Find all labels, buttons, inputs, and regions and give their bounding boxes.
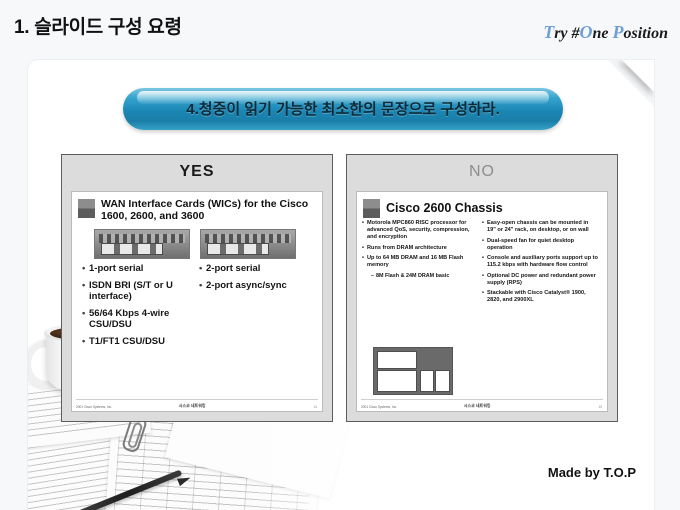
diagram-box — [377, 370, 417, 392]
list-item: •56/64 Kbps 4-wire CSU/DSU — [82, 308, 199, 331]
bullet-dot-icon: • — [199, 280, 206, 292]
diagram-box — [420, 370, 434, 392]
slide-bullet-chip-icon — [78, 199, 95, 218]
list-item: •Optional DC power and redundant power s… — [482, 273, 598, 287]
slide-bullet-columns-no: •Motorola MPC860 RISC processor for adva… — [357, 218, 607, 308]
bullet-dot-icon: • — [82, 308, 89, 331]
slide-footer-center: 시스코 네트워킹 — [464, 403, 491, 409]
list-item-text: Optional DC power and redundant power su… — [487, 273, 598, 287]
slide-header-yes: WAN Interface Cards (WICs) for the Cisco… — [72, 192, 322, 222]
author-signature: Made by T.O.P — [548, 465, 636, 480]
slide-footer-page-number: 14 — [313, 405, 317, 409]
sub-list-item-text: 8M Flash & 24M DRAM basic — [376, 273, 449, 280]
list-item: •Dual-speed fan for quiet desktop operat… — [482, 238, 598, 252]
slide-footer-page-number: 15 — [598, 405, 602, 409]
list-item: •Motorola MPC860 RISC processor for adva… — [362, 220, 478, 241]
slide-title-yes: WAN Interface Cards (WICs) for the Cisco… — [101, 198, 316, 222]
bullet-dot-icon: • — [82, 263, 89, 275]
list-item-text: Stackable with Cisco Catalyst® 1900, 282… — [487, 290, 598, 304]
slide-content-card: 4.청중이 읽기 가능한 최소한의 문장으로 구성하라. YES WAN Int… — [28, 60, 654, 510]
bullet-dot-icon: • — [199, 263, 206, 275]
list-item: •Up to 64 MB DRAM and 16 MB Flash memory — [362, 255, 478, 269]
tagline-part-5: P — [613, 22, 624, 42]
bullet-column-right: •2-port serial •2-port async/sync — [199, 263, 316, 352]
chassis-front-panel-diagram — [373, 347, 453, 395]
list-item: •T1/FT1 CSU/DSU — [82, 336, 199, 348]
slide-header-no: Cisco 2600 Chassis — [357, 192, 607, 218]
list-item-text: 2-port async/sync — [206, 280, 287, 292]
slide-footer-center: 시스코 네트워킹 — [179, 403, 206, 409]
tagline-part-6: osition — [624, 25, 668, 42]
slide-footer-left: 2001 Cisco Systems, Inc. — [76, 405, 112, 409]
list-item-text: ISDN BRI (S/T or U interface) — [89, 280, 199, 303]
bullet-dot-icon: • — [82, 336, 89, 348]
sub-list-item: –8M Flash & 24M DRAM basic — [371, 273, 478, 280]
bullet-column-left: •1-port serial •ISDN BRI (S/T or U inter… — [82, 263, 199, 352]
comparison-panel-no: NO Cisco 2600 Chassis •Motorola MPC860 R… — [346, 154, 618, 422]
list-item: •Easy-open chassis can be mounted in 19"… — [482, 220, 598, 234]
slide-footer-no: 2001 Cisco Systems, Inc. 시스코 네트워킹 15 — [361, 399, 603, 409]
example-slide-yes: WAN Interface Cards (WICs) for the Cisco… — [71, 191, 323, 412]
comparison-panel-yes: YES WAN Interface Cards (WICs) for the C… — [61, 154, 333, 422]
list-item-text: Dual-speed fan for quiet desktop operati… — [487, 238, 598, 252]
bullet-column-left: •Motorola MPC860 RISC processor for adva… — [362, 220, 482, 308]
list-item: •1-port serial — [82, 263, 199, 275]
list-item-text: Motorola MPC860 RISC processor for advan… — [367, 220, 478, 241]
list-item: •Console and auxiliary ports support up … — [482, 255, 598, 269]
slide-footer-left: 2001 Cisco Systems, Inc. — [361, 405, 397, 409]
list-item-text: Console and auxiliary ports support up t… — [487, 255, 598, 269]
list-item-text: T1/FT1 CSU/DSU — [89, 336, 165, 348]
wic-card-photo-2-image — [200, 229, 296, 259]
bullet-column-right: •Easy-open chassis can be mounted in 19"… — [482, 220, 602, 308]
tagline-part-3: O — [580, 22, 593, 42]
list-item-text: Up to 64 MB DRAM and 16 MB Flash memory — [367, 255, 478, 269]
list-item-text: 56/64 Kbps 4-wire CSU/DSU — [89, 308, 199, 331]
page-title: 1. 슬라이드 구성 요령 — [14, 12, 182, 39]
example-slide-no: Cisco 2600 Chassis •Motorola MPC860 RISC… — [356, 191, 608, 412]
page-curl-corner — [608, 60, 654, 106]
tagline-part-1: T — [543, 22, 554, 42]
list-item: •2-port serial — [199, 263, 316, 275]
header-tagline: Try #One Position — [543, 22, 668, 43]
slide-bullet-columns-yes: •1-port serial •ISDN BRI (S/T or U inter… — [72, 261, 322, 352]
slide-title-no: Cisco 2600 Chassis — [386, 198, 503, 215]
wic-card-photos — [72, 222, 322, 261]
instruction-banner: 4.청중이 읽기 가능한 최소한의 문장으로 구성하라. — [123, 88, 563, 130]
diagram-box — [377, 351, 417, 369]
list-item: •Stackable with Cisco Catalyst® 1900, 28… — [482, 290, 598, 304]
tagline-part-4: ne — [593, 25, 613, 42]
wic-card-photo-1-image — [94, 229, 190, 259]
list-item-text: 2-port serial — [206, 263, 260, 275]
list-item-text: Runs from DRAM architecture — [367, 245, 447, 252]
slide-bullet-chip-icon — [363, 199, 380, 218]
page-header: 1. 슬라이드 구성 요령 Try #One Position — [0, 0, 680, 58]
panel-label-no: NO — [347, 155, 617, 181]
list-item-text: 1-port serial — [89, 263, 143, 275]
slide-footer-yes: 2001 Cisco Systems, Inc. 시스코 네트워킹 14 — [76, 399, 318, 409]
bullet-dot-icon: • — [82, 280, 89, 303]
list-item: •Runs from DRAM architecture — [362, 245, 478, 252]
panel-label-yes: YES — [62, 155, 332, 181]
list-item: •2-port async/sync — [199, 280, 316, 292]
instruction-banner-text: 4.청중이 읽기 가능한 최소한의 문장으로 구성하라. — [123, 98, 563, 119]
tagline-part-2: ry # — [554, 25, 579, 42]
diagram-box — [435, 370, 450, 392]
list-item: •ISDN BRI (S/T or U interface) — [82, 280, 199, 303]
list-item-text: Easy-open chassis can be mounted in 19" … — [487, 220, 598, 234]
